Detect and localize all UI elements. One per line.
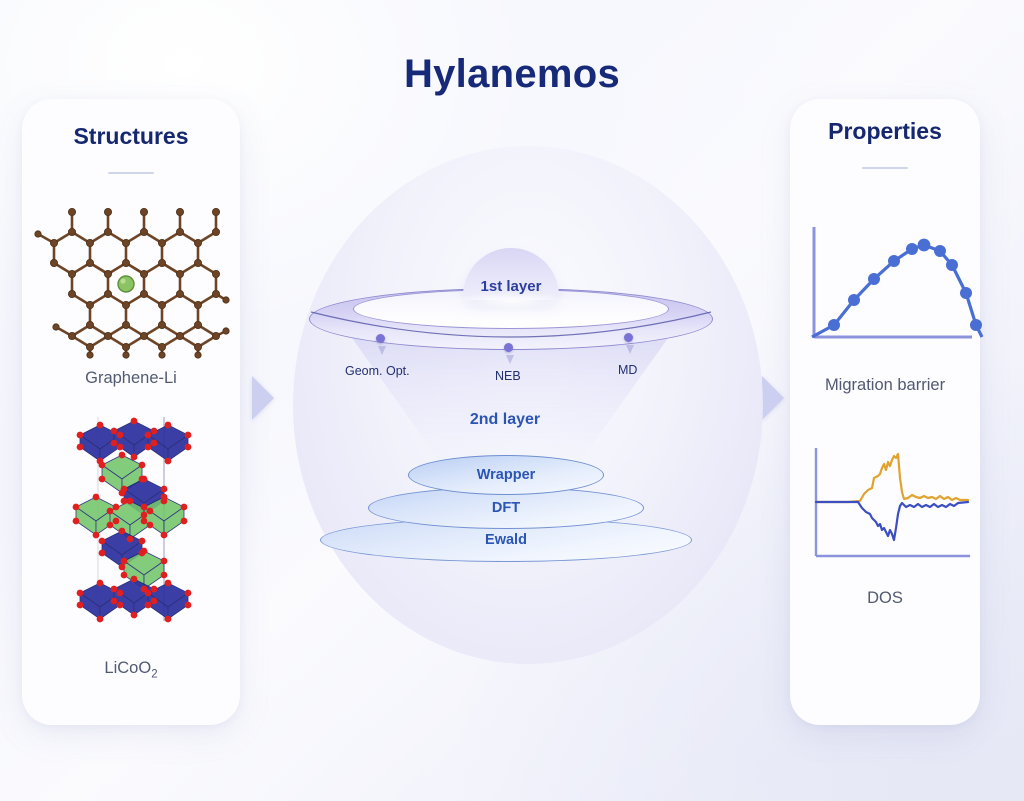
method-label-geom-opt: Geom. Opt.	[345, 364, 410, 378]
licoo2-label-sub: 2	[151, 668, 157, 680]
migration-barrier-label: Migration barrier	[790, 376, 980, 395]
method-tick-md-icon	[626, 345, 634, 354]
disc-wrapper-label: Wrapper	[409, 467, 603, 483]
arrow-structures-to-center-icon	[252, 376, 274, 420]
method-label-neb: NEB	[495, 369, 521, 383]
properties-divider	[862, 167, 908, 169]
licoo2-label: LiCoO2	[22, 659, 240, 680]
dos-spin-up-curve	[816, 454, 968, 502]
structures-divider	[108, 172, 154, 174]
poster-canvas: Hylanemos Structures	[0, 0, 1024, 801]
licoo2-label-main: LiCoO	[104, 659, 151, 677]
dos-chart	[804, 444, 974, 566]
method-dot-geom-opt[interactable]	[376, 334, 385, 343]
method-tick-geom-opt-icon	[378, 346, 386, 355]
method-dot-md[interactable]	[624, 333, 633, 342]
structures-panel: Structures	[22, 99, 240, 725]
method-label-md: MD	[618, 363, 637, 377]
structures-heading: Structures	[22, 123, 240, 150]
licoo2-figure	[66, 409, 198, 637]
migration-barrier-chart	[800, 221, 976, 349]
disc-wrapper[interactable]: Wrapper	[408, 455, 604, 495]
properties-panel: Properties Migration barrier	[790, 99, 980, 725]
graphene-li-label: Graphene-Li	[22, 369, 240, 388]
second-layer-label: 2nd layer	[420, 411, 590, 429]
lithium-atom	[118, 276, 134, 292]
method-tick-neb-icon	[506, 355, 514, 364]
dos-label: DOS	[790, 589, 980, 608]
disc-ewald-label: Ewald	[321, 532, 691, 548]
method-dot-neb[interactable]	[504, 343, 513, 352]
page-title: Hylanemos	[0, 52, 1024, 97]
properties-heading: Properties	[790, 118, 980, 145]
dos-spin-down-curve	[816, 502, 968, 540]
funnel-rim-arc	[309, 288, 713, 350]
arrow-center-to-properties-icon	[762, 376, 784, 420]
graphene-li-figure	[30, 203, 232, 361]
disc-dft-label: DFT	[369, 500, 643, 516]
